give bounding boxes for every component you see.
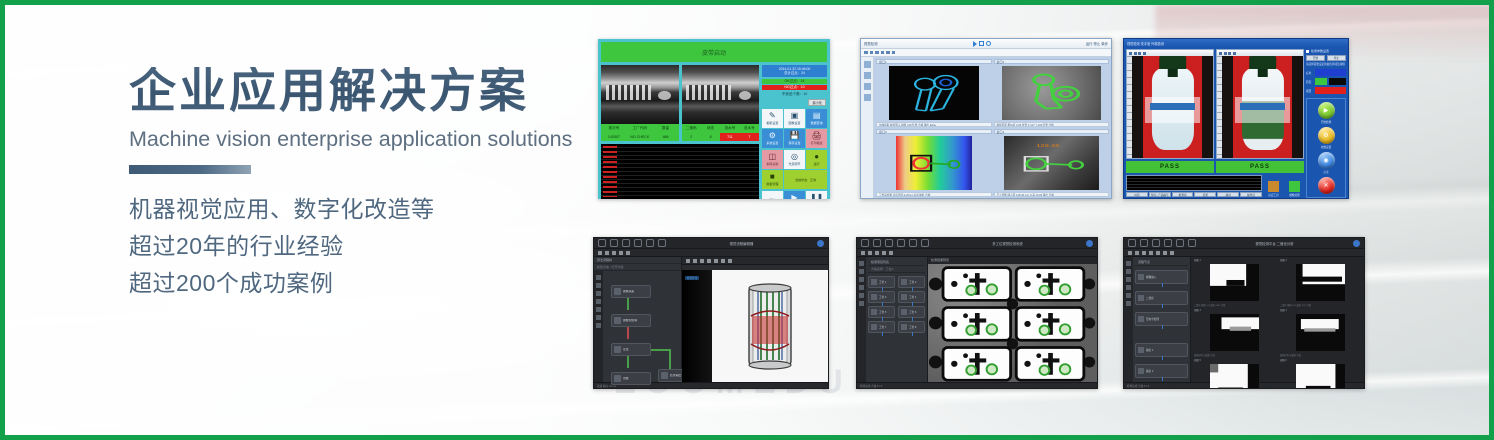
tool-icon[interactable] — [864, 51, 868, 55]
p1-table-2: 二维码 状态 流水号 总水号 2 8 711 7 — [682, 124, 760, 141]
p1-table-1-header: 批次号 工厂代码 数量 — [601, 124, 679, 133]
p2-cell-4[interactable]: 窗口4 128.46 尺寸测量 圆心距 128.46 m — [994, 129, 1110, 197]
p6-binary-image-4 — [1296, 314, 1345, 351]
grid-icon[interactable] — [1170, 251, 1174, 255]
binary-node-icon — [1138, 295, 1144, 301]
p3-swatch-row-1: 标准 — [1306, 69, 1346, 76]
p1-tile-label: 数据查询 — [811, 121, 823, 125]
p6-cell-3[interactable]: 视图 3 缺陷检测 无缺陷 合格 — [1192, 308, 1277, 357]
p1-tile-label: 保存设置 — [788, 141, 800, 145]
roi-icon[interactable] — [1143, 52, 1146, 55]
save-icon[interactable] — [885, 239, 893, 247]
add-node-icon[interactable] — [605, 251, 609, 255]
p1-tile-pause[interactable]: ❚❚ 暂停 — [806, 191, 827, 199]
locate-icon[interactable] — [596, 299, 601, 304]
zoom-icon[interactable] — [889, 251, 893, 255]
p5-station-card[interactable]: 工位 3 — [868, 291, 895, 303]
p1-tile-label: 条码识别 — [766, 162, 778, 166]
measure-icon[interactable] — [596, 307, 601, 312]
pan-icon[interactable] — [1224, 52, 1227, 55]
p1-table-1: 批次号 工厂代码 数量 140507 NO CHECK 466 — [601, 124, 679, 141]
select-icon[interactable] — [861, 251, 865, 255]
run-icon[interactable] — [658, 239, 666, 247]
zoom-icon[interactable] — [1219, 52, 1222, 55]
record-icon[interactable] — [986, 41, 991, 46]
rod-depth-svg — [896, 136, 972, 191]
run-dot-icon: ● — [814, 153, 819, 161]
binary-svg — [1210, 314, 1259, 351]
camera-icon[interactable] — [859, 269, 864, 274]
p6-node-card[interactable]: 输出 1 — [1135, 343, 1188, 357]
redo-icon[interactable] — [646, 239, 654, 247]
screenshot-belt-inspection-hmi[interactable]: 皮带启动 批次号 工厂代码 数量 140507 — [598, 39, 830, 199]
p3-record-button[interactable]: ◉ — [1318, 152, 1335, 169]
play-circle-icon: ▶ — [1324, 107, 1329, 114]
close-circle-icon: ✕ — [1323, 182, 1328, 189]
redo-icon[interactable] — [909, 239, 917, 247]
p6-node-card[interactable]: 图像输入 — [1135, 270, 1188, 284]
avatar — [1353, 240, 1360, 247]
p1-status-ng: NG过点：10 — [762, 85, 827, 90]
output-icon[interactable] — [1126, 293, 1131, 298]
p3-tool-image-process[interactable]: 图像处理 — [1285, 181, 1304, 197]
p3-camera-view-left[interactable] — [1126, 49, 1214, 159]
p6-cell-footer: 二值化 阈值 120 面积 3482 合格 — [1192, 303, 1277, 307]
p4-white-stage — [712, 270, 828, 382]
p1-table-1-row: 140507 NO CHECK 466 — [601, 133, 679, 142]
p5-station-card[interactable]: 工位 2 — [898, 276, 925, 288]
p6-user-area[interactable] — [1353, 240, 1360, 247]
grid-icon[interactable] — [728, 259, 732, 263]
calibration-icon — [1268, 181, 1279, 192]
tool-icon[interactable] — [892, 51, 896, 55]
binary-icon[interactable] — [1126, 277, 1131, 282]
p2-edge-image — [889, 66, 979, 119]
node-link — [627, 356, 629, 368]
p5-body: 检测项目列表 方案名称 : 工位A 工位 1 工位 2 工位 3 — [857, 257, 1097, 382]
p3-swatch-row-2: 匹配 — [1306, 78, 1346, 85]
bullet-list: 机器视觉应用、数字化改造等 超过20年的行业经验 超过200个成功案例 — [129, 191, 599, 303]
p1-tile-print[interactable]: 🖨 打印报表 — [806, 129, 827, 148]
p5-station-card[interactable]: 工位 1 — [868, 276, 895, 288]
p3-start-button[interactable]: 开始 — [1306, 55, 1325, 61]
copy-block: 企业应用解决方案 Machine vision enterprise appli… — [129, 67, 599, 303]
p4-node-3[interactable]: 定位 — [611, 343, 651, 356]
p1-th-cell: 工厂代码 — [627, 124, 653, 133]
input-node-icon — [1138, 274, 1144, 280]
p2-cell-1[interactable]: 窗口1 — [876, 59, 992, 127]
p1-th-cell: 状态 — [701, 124, 720, 133]
p4-node-2[interactable]: 图像预处理 — [611, 314, 651, 327]
redo-icon[interactable] — [1176, 239, 1184, 247]
p4-view-tag: 检测区域 — [685, 276, 699, 280]
binary-svg — [1210, 364, 1259, 389]
p1-th-cell: 二维码 — [682, 124, 701, 133]
p1-tile-start[interactable]: ▶ 启动 — [784, 191, 805, 199]
cursor-icon[interactable] — [1126, 261, 1131, 266]
screenshot-multi-part-inspection[interactable]: 多工位视觉检测系统 检测项目列表 方案名称 : 工位A — [856, 237, 1098, 389]
p4-node-label: 定位 — [623, 348, 648, 351]
p5-station-list: 检测项目列表 方案名称 : 工位A 工位 1 工位 2 工位 3 — [866, 257, 928, 382]
p3-camera-view-right[interactable] — [1216, 49, 1304, 159]
p6-cell-4[interactable]: 视图 4 缺陷检测 无缺陷 合格 — [1278, 308, 1363, 357]
binary-svg — [1210, 264, 1259, 301]
save-icon[interactable] — [1152, 239, 1160, 247]
template-icon: ■ — [770, 173, 775, 181]
p1-tile-exit[interactable]: 退出 — [762, 191, 783, 199]
settings-icon[interactable] — [1126, 301, 1131, 306]
p6-node-label: 输出 1 — [1146, 348, 1153, 352]
station-icon — [871, 309, 877, 315]
p2-cell-footer: 三维深度图 高度范围 0-25mm 彩虹映射 合格 — [876, 192, 992, 197]
undo-icon[interactable] — [634, 239, 642, 247]
measure-icon[interactable] — [1228, 52, 1231, 55]
bullet-item: 机器视觉应用、数字化改造等 — [129, 191, 599, 228]
p3-settings-button[interactable]: ⚙ — [1318, 127, 1335, 144]
filter-icon[interactable] — [859, 277, 864, 282]
rod-measure-svg: 128.46 — [1004, 136, 1099, 191]
bullet-item: 超过20年的行业经验 — [129, 228, 599, 265]
p5-rail[interactable] — [857, 257, 866, 382]
station-icon — [901, 294, 907, 300]
p2-cell-footer: 尺寸测量 圆心距 128.46 mm 公差 ±0.05 输出 合格 — [994, 192, 1110, 197]
p3-sidebar-title-row: 检测参数设置 — [1306, 49, 1346, 53]
tool-icon[interactable] — [875, 51, 879, 55]
tool-icon[interactable] — [870, 51, 874, 55]
p6-cell-body — [1278, 312, 1363, 353]
node-link — [648, 349, 670, 351]
p1-tile-light[interactable]: ◎ 光源调节 — [784, 150, 805, 169]
banner-root: 机器视觉 ZOOMEDU 企业应用解决方案 Machine vision ent… — [0, 0, 1494, 440]
p1-tile-camera-settings[interactable]: ✎ 相机设置 — [762, 109, 783, 128]
node-link — [627, 298, 629, 310]
title-divider — [129, 165, 251, 174]
p1-tile-status: 当前状态：正常 — [784, 170, 827, 189]
p2-depth-image — [896, 136, 972, 191]
locate-node-icon — [614, 346, 621, 353]
layers-icon[interactable] — [864, 83, 871, 90]
bottle-label — [1145, 97, 1200, 124]
station-icon — [871, 279, 877, 285]
open-icon[interactable] — [873, 239, 881, 247]
run-icon[interactable] — [921, 239, 929, 247]
p6-cell-body — [1278, 262, 1363, 303]
p5-title-bar: 多工位视觉检测系统 — [857, 238, 1097, 249]
p5-card-label: 工位 7 — [879, 325, 886, 329]
tool-icon[interactable] — [886, 51, 890, 55]
fit-icon[interactable] — [686, 259, 690, 263]
gear-circle-icon: ⚙ — [1323, 132, 1328, 139]
p3-exit-button[interactable]: ✕ — [1318, 177, 1335, 194]
open-icon[interactable] — [610, 239, 618, 247]
p2-view-grid: 窗口1 — [874, 57, 1111, 199]
output-node-icon — [1138, 347, 1144, 353]
save-icon[interactable] — [622, 239, 630, 247]
p3-swatch-standard[interactable] — [1315, 69, 1346, 76]
p2-cell-body — [994, 64, 1110, 122]
p4-user-area[interactable] — [817, 240, 824, 247]
window-icon[interactable] — [598, 239, 606, 247]
p4-node-canvas[interactable]: 图像采集 图像预处理 定位 测量 — [603, 271, 681, 382]
p3-tool-label: 图像处理 — [1289, 193, 1299, 197]
play-icon: ▶ — [791, 194, 797, 199]
p4-node-4[interactable]: 测量 — [611, 372, 651, 385]
p5-toolbar[interactable] — [857, 249, 1097, 257]
p6-side-title: 流程节点 — [1135, 259, 1188, 266]
delete-icon[interactable] — [612, 251, 616, 255]
camera-icon[interactable] — [596, 283, 601, 288]
p1-info-line: 总计过点：24 — [764, 71, 826, 76]
p5-inspection-image[interactable] — [928, 264, 1097, 382]
p3-sidebar-title: 检测参数设置 — [1311, 49, 1329, 53]
p6-node-card[interactable]: 二值化 — [1135, 291, 1188, 305]
p1-minimize-button[interactable]: 最小化 — [808, 99, 826, 106]
p4-node-label: 图像采集 — [623, 290, 648, 293]
screenshot-node-flow-editor[interactable]: 视觉流程编辑器 算法流程树 新建方案 / 打开方案 — [593, 237, 829, 389]
bottle-label-strip — [1240, 103, 1285, 110]
cursor-icon[interactable] — [864, 61, 871, 68]
p6-node-card[interactable]: 输出 2 — [1135, 364, 1188, 378]
add-node-icon[interactable] — [1135, 251, 1139, 255]
printer-icon: 🖨 — [812, 132, 822, 140]
p4-view-toolbar[interactable] — [682, 257, 828, 265]
screenshot-binary-inspection-grid[interactable]: 视觉检测平台 二值化分析 流程节点 — [1123, 237, 1365, 389]
p6-node-card[interactable]: 形态学处理 — [1135, 312, 1188, 326]
p1-title-bar: 皮带启动 — [601, 42, 827, 62]
p1-camera-image-2 — [682, 65, 760, 124]
circle-icon[interactable] — [1156, 251, 1160, 255]
p3-log-col: 时间 — [1126, 192, 1148, 197]
tool-icon[interactable] — [881, 51, 885, 55]
node-link — [627, 327, 629, 339]
p5-station-card[interactable]: 工位 4 — [898, 291, 925, 303]
measure-node-icon — [614, 375, 621, 382]
p3-stop-button[interactable]: 停止 — [1327, 55, 1346, 61]
p5-station-card[interactable]: 工位 7 — [868, 321, 895, 333]
pan-icon[interactable] — [1134, 52, 1137, 55]
p3-log-col: 检测项 — [1172, 192, 1194, 197]
rod-match-svg — [1002, 66, 1101, 119]
p6-toolbar[interactable] — [1124, 249, 1364, 257]
window-icon[interactable] — [1128, 239, 1136, 247]
p4-image-view[interactable]: 检测区域 — [682, 257, 828, 382]
window-icon[interactable] — [861, 239, 869, 247]
p1-camera-view-2[interactable]: 二维码 状态 流水号 总水号 2 8 711 7 — [682, 65, 760, 141]
p3-title: 视觉检测 洗手液 外观检测 — [1127, 41, 1164, 46]
logic-icon[interactable] — [596, 315, 601, 320]
delete-icon[interactable] — [875, 251, 879, 255]
cursor-icon[interactable] — [596, 275, 601, 280]
p1-table-2-row: 2 8 711 7 — [682, 133, 760, 142]
checkbox-icon[interactable] — [1306, 50, 1309, 53]
p1-tile-label: 模板管理 — [766, 182, 778, 186]
zoom-icon[interactable] — [1129, 52, 1132, 55]
output-icon[interactable] — [596, 323, 601, 328]
image-process-icon — [1289, 181, 1300, 192]
p3-log-col: 结果 — [1194, 192, 1216, 197]
p4-node-label: 测量 — [623, 377, 648, 380]
output-node-icon — [661, 372, 668, 379]
p3-low-icons: 标定工具 图像处理 — [1264, 175, 1304, 197]
screenshot-rod-vision-analysis[interactable]: 视觉检测 运行 停止 单步 — [860, 38, 1112, 199]
p6-view-grid: 视图 1 二值化 阈值 120 面积 3482 合格 — [1191, 257, 1364, 382]
p3-camera-row — [1126, 49, 1304, 159]
roi-icon[interactable] — [1233, 52, 1236, 55]
p6-cell-1[interactable]: 视图 1 二值化 阈值 120 面积 3482 合格 — [1192, 258, 1277, 307]
link-icon[interactable] — [619, 251, 623, 255]
p6-binary-image-2 — [1296, 264, 1345, 301]
p2-cell-3[interactable]: 窗口3 三维深度图 高度范围 0-25mm 彩虹映射 合格 — [876, 129, 992, 197]
p1-tile-template[interactable]: ■ 模板管理 — [762, 170, 783, 189]
p1-th-cell: 批次号 — [601, 124, 627, 133]
filter-icon[interactable] — [596, 291, 601, 296]
bottle-label-strip — [1150, 103, 1195, 110]
pencil-icon[interactable] — [1163, 251, 1167, 255]
p3-tool-calibration[interactable]: 标定工具 — [1264, 181, 1283, 197]
open-icon[interactable] — [1140, 239, 1148, 247]
p2-transport-controls[interactable] — [973, 41, 991, 47]
p6-binary-image-5 — [1210, 364, 1259, 389]
p4-side-strip: 检测区域 — [682, 270, 712, 382]
p5-station-card[interactable]: 工位 5 — [868, 306, 895, 318]
p1-td-cell: 140507 — [601, 133, 627, 142]
output-icon[interactable] — [859, 301, 864, 306]
line-icon[interactable] — [707, 259, 711, 263]
p3-log-footer: 时间 条码 / 产品编号 检测项 结果 耗时 操作员 — [1126, 192, 1262, 197]
p3-log-col: 操作员 — [1240, 192, 1262, 197]
p4-side-sub: 新建方案 / 打开方案 — [594, 264, 681, 271]
p3-start-detect-button[interactable]: ▶ — [1318, 102, 1335, 119]
p2-title: 视觉检测 — [864, 41, 878, 46]
p2-cell-footer: 模板匹配 相似度 0.95 位置 X 127 Y 203 结果 合格 — [994, 122, 1110, 127]
p1-tile-system-settings[interactable]: ⚙ 系统设置 — [762, 129, 783, 148]
p1-tile-run[interactable]: ● 运行 — [806, 150, 827, 169]
p3-swatch-match[interactable] — [1315, 78, 1327, 85]
p5-station-card[interactable]: 工位 8 — [898, 321, 925, 333]
p2-toolbar[interactable] — [861, 49, 1111, 57]
link-icon[interactable] — [882, 251, 886, 255]
p3-sidebar-note: 请选择需要设定的颜色区域及阈值 — [1306, 63, 1346, 67]
branch-icon[interactable] — [864, 94, 871, 101]
p2-left-rail[interactable] — [861, 57, 874, 199]
measure-icon[interactable] — [859, 293, 864, 298]
page-subtitle: Machine vision enterprise application so… — [129, 127, 599, 152]
p6-rail[interactable] — [1124, 257, 1133, 382]
p5-user-area[interactable] — [1086, 240, 1093, 247]
p1-tile-label: 打印报表 — [811, 141, 823, 145]
p4-title: 视觉流程编辑器 — [670, 241, 813, 246]
undo-icon[interactable] — [897, 239, 905, 247]
run-icon[interactable] — [1188, 239, 1196, 247]
page-title: 企业应用解决方案 — [129, 67, 599, 118]
save-icon: 💾 — [790, 132, 800, 140]
p6-cell-2[interactable]: 视图 2 二值化 阈值 120 面积 3511 合格 — [1278, 258, 1363, 307]
p4-side-title: 算法流程树 — [594, 257, 681, 264]
bottle-cap — [1159, 56, 1187, 69]
zoom-icon[interactable] — [626, 251, 630, 255]
p3-swatch-label: 标准 — [1306, 71, 1313, 75]
filter-node-icon — [614, 317, 621, 324]
p1-log-console[interactable] — [601, 144, 759, 199]
p5-card-label: 工位 3 — [879, 295, 886, 299]
measure-icon[interactable] — [1138, 52, 1141, 55]
select-icon[interactable] — [1128, 251, 1132, 255]
image-icon[interactable] — [864, 72, 871, 79]
avatar — [817, 240, 824, 247]
p2-cell-2[interactable]: 窗口2 — [994, 59, 1110, 127]
p2-title-bar: 视觉检测 运行 停止 单步 — [861, 39, 1111, 49]
p4-toolbar[interactable] — [594, 249, 828, 257]
p1-tile-image-settings[interactable]: ▣ 图像设置 — [784, 109, 805, 128]
p1-status-ok: OK过点：14 — [762, 79, 827, 84]
p3-log-col: 耗时 — [1217, 192, 1239, 197]
scene-shadow-left — [1222, 56, 1233, 158]
p3-result-left: PASS — [1126, 161, 1214, 173]
zoom-in-icon[interactable] — [693, 259, 697, 263]
p1-td-cell: 8 — [701, 133, 720, 142]
line-icon[interactable] — [1149, 251, 1153, 255]
p6-body: 流程节点 图像输入 二值化 形态学处理 — [1124, 257, 1364, 382]
p2-cell-body — [876, 134, 992, 192]
add-node-icon[interactable] — [868, 251, 872, 255]
part-array-svg — [928, 264, 1097, 382]
undo-icon[interactable] — [1164, 239, 1172, 247]
locate-icon[interactable] — [859, 285, 864, 290]
scene-shadow-left — [1132, 56, 1143, 158]
check-icon[interactable] — [700, 259, 704, 263]
p2-cell-body: 128.46 — [994, 134, 1110, 192]
database-icon: ▤ — [813, 112, 821, 120]
camera-settings-icon: ✎ — [769, 112, 776, 120]
check-icon[interactable] — [1142, 251, 1146, 255]
p1-tile-barcode[interactable]: ◫ 条码识别 — [762, 150, 783, 169]
morphology-icon[interactable] — [1126, 285, 1131, 290]
p2-cell-footer: 边缘提取 梯度算子 阈值 128 结果 合格 输出 Edge — [876, 122, 992, 127]
p1-body: 批次号 工厂代码 数量 140507 NO CHECK 466 — [601, 65, 827, 199]
p6-node-label: 输出 2 — [1146, 369, 1153, 373]
p3-scene-right — [1222, 56, 1303, 158]
cursor-icon[interactable] — [859, 261, 864, 266]
record-circle-icon: ◉ — [1323, 157, 1328, 164]
binary-svg — [1296, 314, 1345, 351]
p4-node-rail[interactable] — [594, 271, 603, 382]
p1-tile-data-query[interactable]: ▤ 数据查询 — [806, 109, 827, 128]
p3-scene-left — [1132, 56, 1213, 158]
play-icon[interactable] — [973, 41, 977, 47]
p3-log-console[interactable] — [1126, 175, 1262, 191]
p5-station-card[interactable]: 工位 6 — [898, 306, 925, 318]
p5-card-label: 工位 8 — [909, 325, 916, 329]
p4-node-1[interactable]: 图像采集 — [611, 285, 651, 298]
screenshot-bottle-label-inspection[interactable]: 视觉检测 洗手液 外观检测 — [1123, 38, 1349, 199]
p3-swatch-label: 匹配 — [1306, 80, 1313, 84]
p1-th-cell: 数量 — [653, 124, 679, 133]
select-icon[interactable] — [598, 251, 602, 255]
p1-control-panel: 2014-01-22 15:46:00 总计过点：24 OK过点：14 NG过点… — [762, 65, 827, 199]
p5-side-sub: 方案名称 : 工位A — [868, 266, 925, 273]
p3-swatch-alarm[interactable] — [1315, 87, 1346, 94]
p3-swatch-background[interactable] — [1329, 78, 1346, 85]
input-icon[interactable] — [1126, 269, 1131, 274]
p5-card-label: 工位 2 — [909, 280, 916, 284]
p1-tile-save[interactable]: 💾 保存设置 — [784, 129, 805, 148]
pencil-icon[interactable] — [721, 259, 725, 263]
p1-camera-row: 批次号 工厂代码 数量 140507 NO CHECK 466 — [601, 65, 759, 141]
p1-camera-view-1[interactable]: 批次号 工厂代码 数量 140507 NO CHECK 466 — [601, 65, 679, 141]
stop-icon[interactable] — [979, 41, 984, 46]
p1-tile-label: 相机设置 — [766, 121, 778, 125]
circle-icon[interactable] — [714, 259, 718, 263]
